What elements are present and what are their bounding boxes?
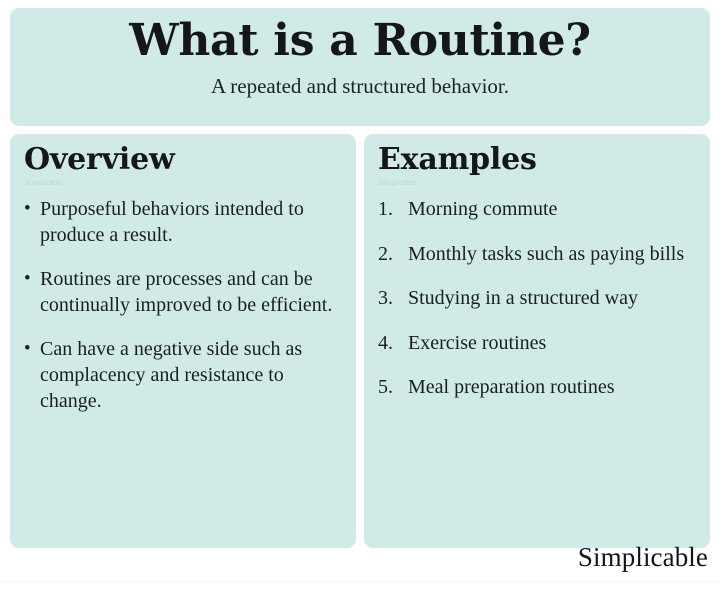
bullet-marker: • bbox=[24, 197, 40, 221]
overview-list: • Purposeful behaviors intended to produ… bbox=[24, 197, 344, 414]
list-item: 4. Exercise routines bbox=[378, 331, 698, 357]
number-marker: 5. bbox=[378, 375, 408, 401]
brand-logo: Simplicable bbox=[578, 544, 708, 571]
list-item: • Purposeful behaviors intended to produ… bbox=[24, 197, 344, 248]
list-item: 1. Morning commute bbox=[378, 197, 698, 223]
page-title: What is a Routine? bbox=[129, 16, 591, 65]
list-item-text: Routines are processes and can be contin… bbox=[40, 267, 344, 318]
header-card: What is a Routine? A repeated and struct… bbox=[10, 8, 710, 126]
list-item: • Can have a negative side such as compl… bbox=[24, 337, 344, 414]
number-marker: 4. bbox=[378, 331, 408, 357]
page-subtitle: A repeated and structured behavior. bbox=[211, 74, 509, 99]
column-heading-overview: Overview bbox=[24, 142, 344, 178]
watermark-examples: Simplicable bbox=[379, 180, 698, 187]
list-item-text: Can have a negative side such as complac… bbox=[40, 337, 344, 414]
list-item: 3. Studying in a structured way bbox=[378, 286, 698, 312]
column-examples: Examples Simplicable 1. Morning commute … bbox=[364, 134, 710, 548]
list-item-text: Exercise routines bbox=[408, 331, 698, 357]
number-marker: 3. bbox=[378, 286, 408, 312]
list-item-text: Meal preparation routines bbox=[408, 375, 698, 401]
bullet-marker: • bbox=[24, 337, 40, 361]
list-item-text: Purposeful behaviors intended to produce… bbox=[40, 197, 344, 248]
bottom-divider bbox=[0, 581, 720, 582]
column-heading-examples: Examples bbox=[378, 142, 698, 178]
examples-list: 1. Morning commute 2. Monthly tasks such… bbox=[378, 197, 698, 401]
list-item: 2. Monthly tasks such as paying bills bbox=[378, 242, 698, 268]
columns-container: Overview Simplicable • Purposeful behavi… bbox=[10, 134, 710, 548]
infographic-root: What is a Routine? A repeated and struct… bbox=[0, 0, 720, 589]
bullet-marker: • bbox=[24, 267, 40, 291]
watermark-overview: Simplicable bbox=[25, 180, 344, 187]
list-item-text: Monthly tasks such as paying bills bbox=[408, 242, 698, 268]
column-overview: Overview Simplicable • Purposeful behavi… bbox=[10, 134, 356, 548]
number-marker: 2. bbox=[378, 242, 408, 268]
list-item-text: Morning commute bbox=[408, 197, 698, 223]
number-marker: 1. bbox=[378, 197, 408, 223]
list-item: 5. Meal preparation routines bbox=[378, 375, 698, 401]
list-item-text: Studying in a structured way bbox=[408, 286, 698, 312]
list-item: • Routines are processes and can be cont… bbox=[24, 267, 344, 318]
